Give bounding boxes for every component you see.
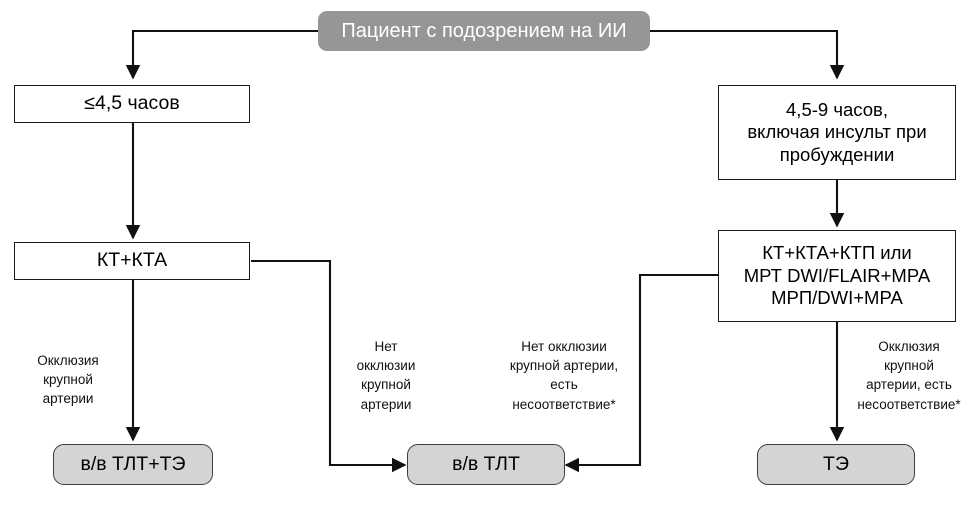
node-label: ≤4,5 часов — [80, 92, 183, 116]
node-treatment-evt: ТЭ — [757, 444, 915, 485]
node-label: КТ+КТА+КТП или МРТ DWI/FLAIR+МРА МРП/DWI… — [740, 242, 935, 310]
node-label: Пациент с подозрением на ИИ — [337, 19, 630, 43]
edge-label-occlusion-left: Окклюзия крупной артерии — [12, 332, 124, 409]
node-imaging-early: КТ+КТА — [14, 242, 250, 280]
node-label: в/в ТЛТ — [448, 453, 524, 477]
node-label: 4,5-9 часов, включая инсульт при пробужд… — [743, 99, 930, 167]
node-treatment-ivt: в/в ТЛТ — [407, 444, 565, 485]
node-treatment-ivt-evt: в/в ТЛТ+ТЭ — [53, 444, 213, 485]
edge-label-no-occlusion-left: Нет окклюзии крупной артерии — [333, 318, 439, 414]
node-time-window-early: ≤4,5 часов — [14, 85, 250, 123]
node-label: КТ+КТА — [93, 249, 171, 273]
edge-header-to-early — [133, 31, 318, 78]
edge-label-text: Нет окклюзии крупной артерии — [357, 339, 416, 411]
edge-label-no-occlusion-mismatch: Нет окклюзии крупной артерии, есть несоо… — [490, 318, 638, 414]
node-label: ТЭ — [819, 453, 853, 477]
node-imaging-late: КТ+КТА+КТП или МРТ DWI/FLAIR+МРА МРП/DWI… — [718, 230, 956, 322]
node-time-window-late: 4,5-9 часов, включая инсульт при пробужд… — [718, 85, 956, 180]
edge-label-occlusion-mismatch: Окклюзия крупной артерии, есть несоответ… — [845, 318, 973, 414]
edge-label-text: Нет окклюзии крупной артерии, есть несоо… — [510, 339, 618, 411]
flowchart-canvas: Пациент с подозрением на ИИ ≤4,5 часов 4… — [0, 0, 974, 515]
edge-label-text: Окклюзия крупной артерии, есть несоответ… — [857, 339, 960, 411]
node-label: в/в ТЛТ+ТЭ — [76, 453, 189, 477]
edge-label-text: Окклюзия крупной артерии — [37, 353, 99, 406]
edge-header-to-late — [650, 31, 837, 78]
node-patient-suspected-stroke: Пациент с подозрением на ИИ — [318, 11, 650, 51]
